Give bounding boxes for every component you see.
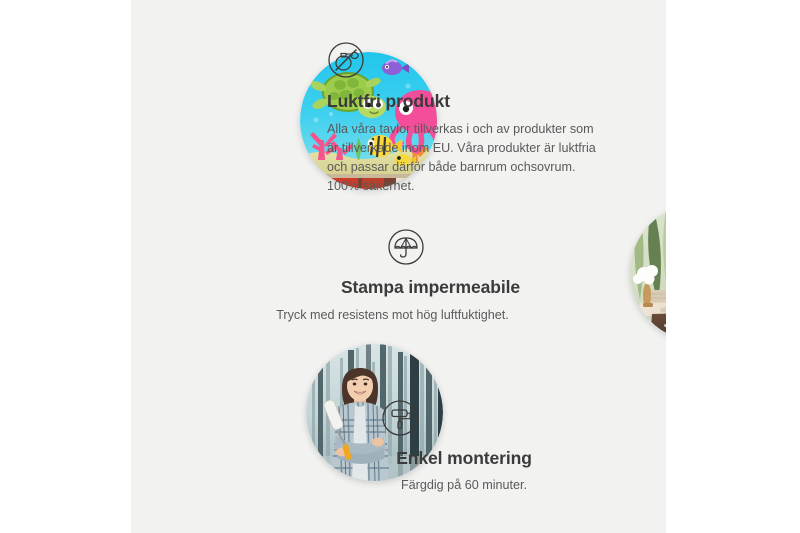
feature-odourless: Luktfri produkt Alla våra tavlor tillver… [327,41,607,196]
feature-odourless-icon-row [327,41,607,79]
feature-odourless-title: Luktfri produkt [327,91,607,113]
feature-easy-assembly-body: Färgdig på 60 minuter. [329,476,599,495]
feature-easy-assembly: Enkel montering Färgdig på 60 minuter. [329,399,599,495]
no-odour-icon [327,41,607,79]
content-panel: Luktfri produkt Alla våra tavlor tillver… [131,0,666,533]
promo-graphic: Luktfri produkt Alla våra tavlor tillver… [0,0,800,533]
feature-waterproof-title: Stampa impermeabile [225,277,560,299]
bathroom-vanity-photo [630,204,666,341]
feature-waterproof: Stampa impermeabile Tryck med resistens … [225,228,560,325]
paint-roller-icon [381,399,419,437]
feature-waterproof-icon-row [225,228,560,266]
feature-odourless-body: Alla våra tavlor tillverkas i och av pro… [327,120,607,197]
feature-easy-assembly-title: Enkel montering [329,448,599,470]
feature-waterproof-body: Tryck med resistens mot hög luftfuktighe… [225,306,560,325]
feature-easy-assembly-icon-row [329,399,599,437]
umbrella-icon [387,228,425,266]
